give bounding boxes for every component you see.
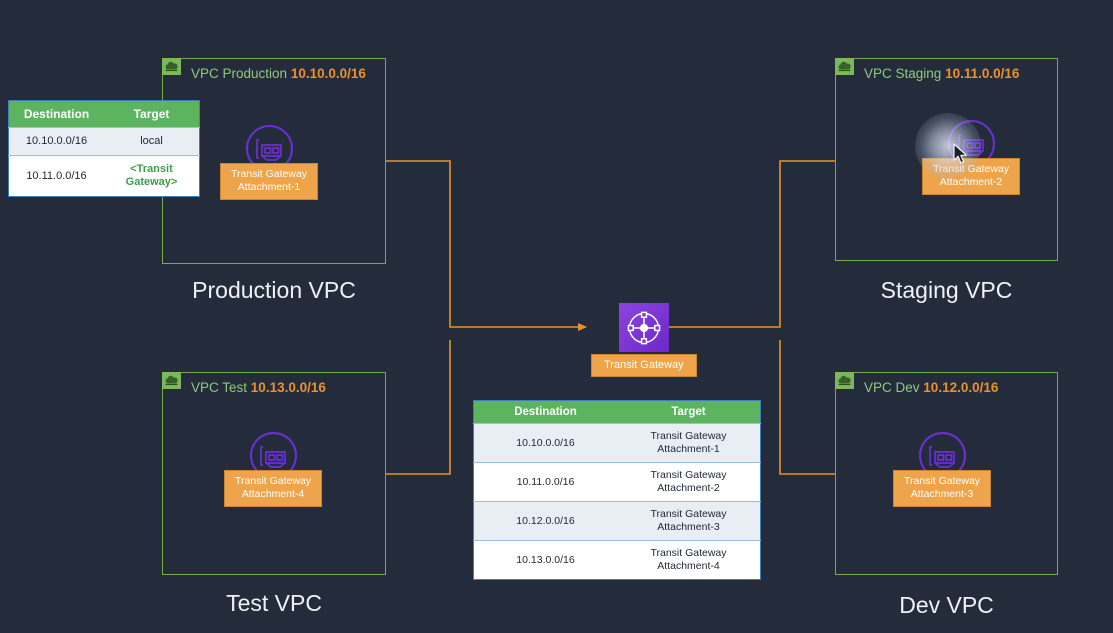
attachment-label-test: Transit Gateway Attachment-4 <box>224 470 322 507</box>
column-header-destination: Destination <box>9 101 105 128</box>
vpc-caption-staging: Staging VPC <box>835 277 1058 304</box>
vpc-cidr: 10.13.0.0/16 <box>251 380 326 395</box>
vpc-cidr: 10.10.0.0/16 <box>291 66 366 81</box>
cell-target: Transit Gateway Attachment-2 <box>617 463 761 502</box>
vpc-cloud-icon <box>162 372 181 389</box>
table-row: 10.10.0.0/16 local <box>9 128 200 156</box>
transit-gateway-node[interactable]: Transit Gateway <box>591 303 697 377</box>
cell-target: local <box>104 128 200 156</box>
table-row: 10.10.0.0/16 Transit Gateway Attachment-… <box>474 424 761 463</box>
target-line-1: Transit Gateway <box>650 430 726 442</box>
attachment-node-production[interactable]: Transit Gateway Attachment-1 <box>220 125 318 200</box>
vpc-caption-production: Production VPC <box>162 277 386 304</box>
attachment-line-1: Transit Gateway <box>235 475 311 487</box>
target-line-2: Attachment-2 <box>657 482 719 494</box>
diagram-canvas: VPC Production 10.10.0.0/16 Transit Gate… <box>0 0 1113 633</box>
transit-gateway-icon <box>619 303 669 352</box>
attachment-line-2: Attachment-2 <box>940 176 1002 188</box>
cell-target: <Transit Gateway> <box>104 156 200 197</box>
cell-target: Transit Gateway Attachment-4 <box>617 541 761 580</box>
cell-destination: 10.12.0.0/16 <box>474 502 618 541</box>
cell-destination: 10.11.0.0/16 <box>9 156 105 197</box>
transit-gateway-label: Transit Gateway <box>591 354 697 377</box>
column-header-target: Target <box>617 401 761 424</box>
target-line-2: Attachment-4 <box>657 560 719 572</box>
vpc-route-table: Destination Target 10.10.0.0/16 local 10… <box>8 100 200 197</box>
target-line-1: Transit Gateway <box>650 508 726 520</box>
vpc-title-text: VPC Production <box>191 66 287 81</box>
cell-target: Transit Gateway Attachment-3 <box>617 502 761 541</box>
attachment-line-1: Transit Gateway <box>933 163 1009 175</box>
transit-gateway-route-table: Destination Target 10.10.0.0/16 Transit … <box>473 400 761 580</box>
table-row: 10.12.0.0/16 Transit Gateway Attachment-… <box>474 502 761 541</box>
target-line-2: Attachment-1 <box>657 443 719 455</box>
cell-destination: 10.13.0.0/16 <box>474 541 618 580</box>
attachment-line-2: Attachment-1 <box>238 181 300 193</box>
vpc-cidr: 10.12.0.0/16 <box>923 380 998 395</box>
cell-destination: 10.10.0.0/16 <box>474 424 618 463</box>
connector-test-to-tgw <box>386 340 450 474</box>
target-line-1: Transit Gateway <box>650 469 726 481</box>
vpc-title-text: VPC Staging <box>864 66 941 81</box>
table-header-row: Destination Target <box>9 101 200 128</box>
column-header-destination: Destination <box>474 401 618 424</box>
vpc-title-dev: VPC Dev 10.12.0.0/16 <box>864 380 998 395</box>
attachment-node-dev[interactable]: Transit Gateway Attachment-3 <box>893 432 991 507</box>
cell-target: Transit Gateway Attachment-1 <box>617 424 761 463</box>
attachment-label-dev: Transit Gateway Attachment-3 <box>893 470 991 507</box>
vpc-caption-dev: Dev VPC <box>835 592 1058 619</box>
attachment-node-staging[interactable]: Transit Gateway Attachment-2 <box>922 120 1020 195</box>
attachment-line-1: Transit Gateway <box>231 168 307 180</box>
target-line-2: Attachment-3 <box>657 521 719 533</box>
attachment-node-test[interactable]: Transit Gateway Attachment-4 <box>224 432 322 507</box>
attachment-line-1: Transit Gateway <box>904 475 980 487</box>
attachment-label-production: Transit Gateway Attachment-1 <box>220 163 318 200</box>
connector-dev-to-tgw <box>780 340 835 474</box>
attachment-line-2: Attachment-4 <box>242 488 304 500</box>
vpc-cidr: 10.11.0.0/16 <box>945 66 1019 81</box>
vpc-title-production: VPC Production 10.10.0.0/16 <box>191 66 366 81</box>
vpc-cloud-icon <box>835 372 854 389</box>
cell-destination: 10.10.0.0/16 <box>9 128 105 156</box>
connector-production-to-tgw <box>386 161 586 327</box>
vpc-title-text: VPC Test <box>191 380 247 395</box>
vpc-caption-test: Test VPC <box>162 590 386 617</box>
vpc-title-test: VPC Test 10.13.0.0/16 <box>191 380 326 395</box>
column-header-target: Target <box>104 101 200 128</box>
target-line-1: Transit Gateway <box>650 547 726 559</box>
attachment-line-2: Attachment-3 <box>911 488 973 500</box>
table-row: 10.11.0.0/16 Transit Gateway Attachment-… <box>474 463 761 502</box>
vpc-title-staging: VPC Staging 10.11.0.0/16 <box>864 66 1019 81</box>
table-header-row: Destination Target <box>474 401 761 424</box>
vpc-cloud-icon <box>162 58 181 75</box>
attachment-label-staging: Transit Gateway Attachment-2 <box>922 158 1020 195</box>
vpc-title-text: VPC Dev <box>864 380 920 395</box>
table-row: 10.13.0.0/16 Transit Gateway Attachment-… <box>474 541 761 580</box>
table-row: 10.11.0.0/16 <Transit Gateway> <box>9 156 200 197</box>
vpc-cloud-icon <box>835 58 854 75</box>
cell-destination: 10.11.0.0/16 <box>474 463 618 502</box>
